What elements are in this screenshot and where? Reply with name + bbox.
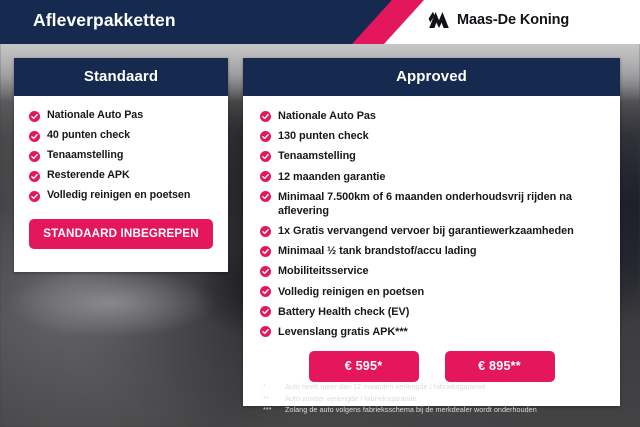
package-title-standaard: Standaard xyxy=(14,58,228,96)
top-banner: Afleverpakketten Maas-De Koning xyxy=(0,0,640,44)
check-circle-icon xyxy=(29,191,40,202)
list-item: Tenaamstelling xyxy=(14,146,228,166)
check-circle-icon xyxy=(260,171,271,182)
footnote-text: Zolang de auto volgens fabrieksschema bi… xyxy=(285,404,537,416)
list-item: Resterende APK xyxy=(14,166,228,186)
list-item: Volledig reinigen en poetsen xyxy=(14,186,228,206)
footnote-marker: *** xyxy=(263,404,285,416)
feature-label: Tenaamstelling xyxy=(278,149,356,163)
package-body-standaard: Nationale Auto Pas 40 punten check Tenaa… xyxy=(14,96,228,272)
list-item: 130 punten check xyxy=(243,126,620,146)
brand-name: Maas-De Koning xyxy=(457,12,569,28)
footnote-text: Auto zonder verlengde / fabrieksgarantie xyxy=(285,393,416,405)
list-item: Volledig reinigen en poetsen xyxy=(243,282,620,302)
check-circle-icon xyxy=(260,111,271,122)
check-circle-icon xyxy=(260,131,271,142)
feature-label: Nationale Auto Pas xyxy=(47,109,143,123)
standaard-inbegrepen-button[interactable]: STANDAARD INBEGREPEN xyxy=(29,219,213,249)
check-circle-icon xyxy=(260,191,271,202)
footnote-row: ** Auto zonder verlengde / fabrieksgaran… xyxy=(263,393,633,405)
cta-wrapper-standaard: STANDAARD INBEGREPEN xyxy=(14,206,228,262)
afleverpakketten-page: Afleverpakketten Maas-De Koning Standaar… xyxy=(0,0,640,427)
feature-label: Mobiliteitsservice xyxy=(278,264,369,278)
check-circle-icon xyxy=(260,226,271,237)
feature-label: 12 maanden garantie xyxy=(278,170,385,184)
feature-label: 1x Gratis vervangend vervoer bij garanti… xyxy=(278,224,574,238)
check-circle-icon xyxy=(260,286,271,297)
footnote-marker: * xyxy=(263,381,285,393)
check-circle-icon xyxy=(260,151,271,162)
feature-label: Minimaal 7.500km of 6 maanden onderhouds… xyxy=(278,190,612,218)
footnotes: * Auto heeft meer dan 12 maanden verleng… xyxy=(263,381,633,416)
footnote-text: Auto heeft meer dan 12 maanden verlengde… xyxy=(285,381,486,393)
check-circle-icon xyxy=(29,131,40,142)
feature-label: Volledig reinigen en poetsen xyxy=(47,189,190,203)
list-item: Nationale Auto Pas xyxy=(243,106,620,126)
feature-label: Battery Health check (EV) xyxy=(278,305,409,319)
check-circle-icon xyxy=(260,306,271,317)
maas-de-koning-logo-icon xyxy=(428,11,450,29)
footnote-row: * Auto heeft meer dan 12 maanden verleng… xyxy=(263,381,633,393)
price-button-595[interactable]: € 595* xyxy=(309,351,419,382)
list-item: 40 punten check xyxy=(14,126,228,146)
feature-label: 40 punten check xyxy=(47,129,130,143)
feature-label: Tenaamstelling xyxy=(47,149,123,163)
check-circle-icon xyxy=(260,266,271,277)
feature-label: Resterende APK xyxy=(47,169,130,183)
package-card-approved: Approved Nationale Auto Pas 130 punten c… xyxy=(243,58,620,406)
price-button-895[interactable]: € 895** xyxy=(445,351,555,382)
feature-label: Minimaal ½ tank brandstof/accu lading xyxy=(278,244,476,258)
check-circle-icon xyxy=(260,246,271,257)
package-body-approved: Nationale Auto Pas 130 punten check Tena… xyxy=(243,96,620,406)
list-item: Battery Health check (EV) xyxy=(243,302,620,322)
check-circle-icon xyxy=(29,151,40,162)
feature-label: Nationale Auto Pas xyxy=(278,109,376,123)
list-item: 12 maanden garantie xyxy=(243,167,620,187)
feature-list-standaard: Nationale Auto Pas 40 punten check Tenaa… xyxy=(14,106,228,206)
list-item: 1x Gratis vervangend vervoer bij garanti… xyxy=(243,221,620,241)
page-title: Afleverpakketten xyxy=(33,10,176,31)
list-item: Tenaamstelling xyxy=(243,146,620,166)
list-item: Nationale Auto Pas xyxy=(14,106,228,126)
list-item: Minimaal 7.500km of 6 maanden onderhouds… xyxy=(243,187,620,221)
list-item: Levenslang gratis APK*** xyxy=(243,322,620,342)
feature-label: 130 punten check xyxy=(278,129,369,143)
check-circle-icon xyxy=(29,171,40,182)
check-circle-icon xyxy=(29,111,40,122)
package-title-approved: Approved xyxy=(243,58,620,96)
background-blur-blob-left xyxy=(6,268,216,338)
check-circle-icon xyxy=(260,326,271,337)
brand-lockup: Maas-De Koning xyxy=(428,11,569,29)
list-item: Minimaal ½ tank brandstof/accu lading xyxy=(243,241,620,261)
list-item: Mobiliteitsservice xyxy=(243,261,620,281)
footnote-row: *** Zolang de auto volgens fabrieksschem… xyxy=(263,404,633,416)
package-card-standaard: Standaard Nationale Auto Pas 40 punten c… xyxy=(14,58,228,272)
feature-label: Volledig reinigen en poetsen xyxy=(278,285,424,299)
footnote-marker: ** xyxy=(263,393,285,405)
feature-list-approved: Nationale Auto Pas 130 punten check Tena… xyxy=(243,106,620,342)
feature-label: Levenslang gratis APK*** xyxy=(278,325,408,339)
